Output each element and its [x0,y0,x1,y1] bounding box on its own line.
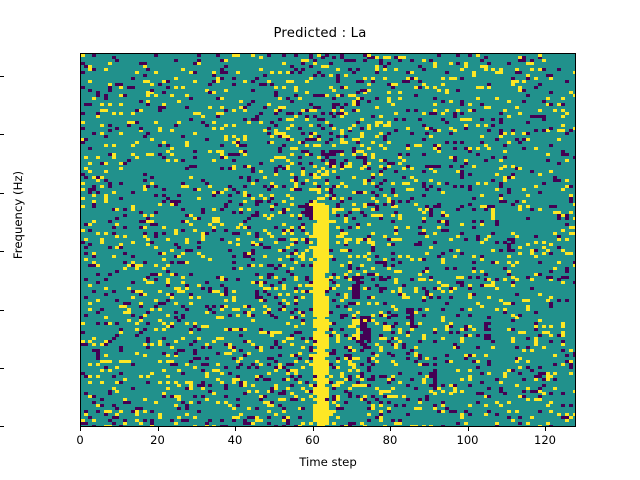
y-axis-tick-mark [0,193,4,194]
x-axis-tick-mark [80,427,81,431]
x-axis: Time step 020406080100120 [0,427,640,480]
x-axis-tick-mark [390,427,391,431]
y-axis-tick-mark [0,134,4,135]
y-axis-tick-mark [0,76,4,77]
figure-canvas: Predicted : La Frequency (Hz) 0200004000… [0,0,640,480]
x-axis-tick-label: 100 [438,433,498,447]
heatmap-plot-area[interactable] [80,53,576,427]
x-axis-tick-label: 120 [515,433,575,447]
x-axis-tick-mark [313,427,314,431]
page-title: Predicted : La [0,26,640,41]
x-axis-tick-label: 0 [50,433,110,447]
y-axis-label: Frequency (Hz) [11,135,25,295]
y-axis-tick-mark [0,251,4,252]
x-axis-tick-mark [545,427,546,431]
x-axis-tick-label: 80 [360,433,420,447]
x-axis-tick-mark [468,427,469,431]
x-axis-tick-mark [235,427,236,431]
x-axis-label: Time step [80,455,576,469]
heatmap-image [81,54,576,427]
x-axis-tick-label: 20 [128,433,188,447]
y-axis-tick-mark [0,310,4,311]
x-axis-tick-label: 40 [205,433,265,447]
y-axis: Frequency (Hz) 0200004000060000800001000… [0,0,80,480]
x-axis-tick-label: 60 [283,433,343,447]
y-axis-tick-mark [0,368,4,369]
x-axis-tick-mark [158,427,159,431]
